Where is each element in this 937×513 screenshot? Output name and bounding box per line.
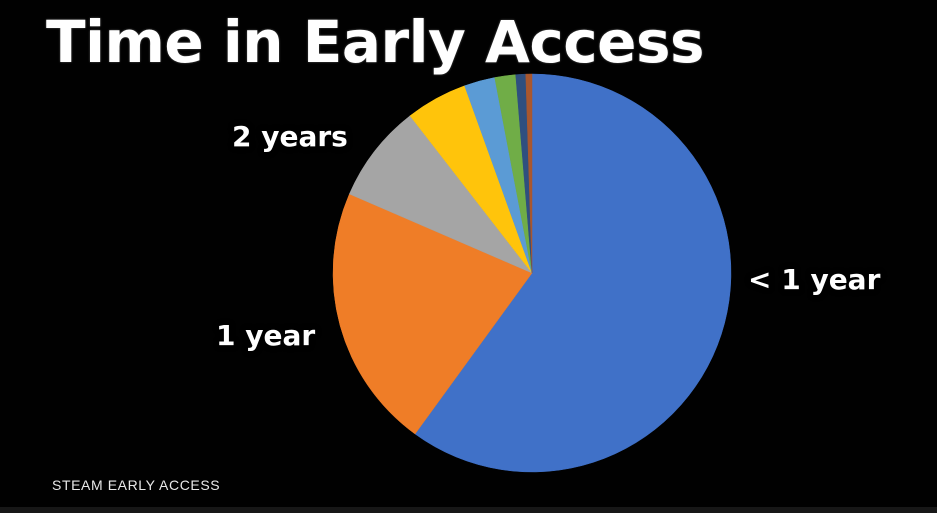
pie-label-2-years: 2 years bbox=[232, 120, 348, 153]
pie-chart-svg bbox=[332, 73, 732, 473]
pie-label-lt-1-year: < 1 year bbox=[748, 263, 880, 296]
source-caption: STEAM EARLY ACCESS bbox=[52, 477, 220, 493]
pie-label-1-year: 1 year bbox=[216, 319, 315, 352]
bottom-letterbox-band bbox=[0, 507, 937, 513]
pie-slice-group bbox=[333, 74, 731, 472]
page-title: Time in Early Access bbox=[46, 6, 704, 78]
slide-canvas: Time in Early Access < 1 year 2 years 1 … bbox=[0, 0, 937, 513]
pie-chart bbox=[332, 73, 732, 473]
